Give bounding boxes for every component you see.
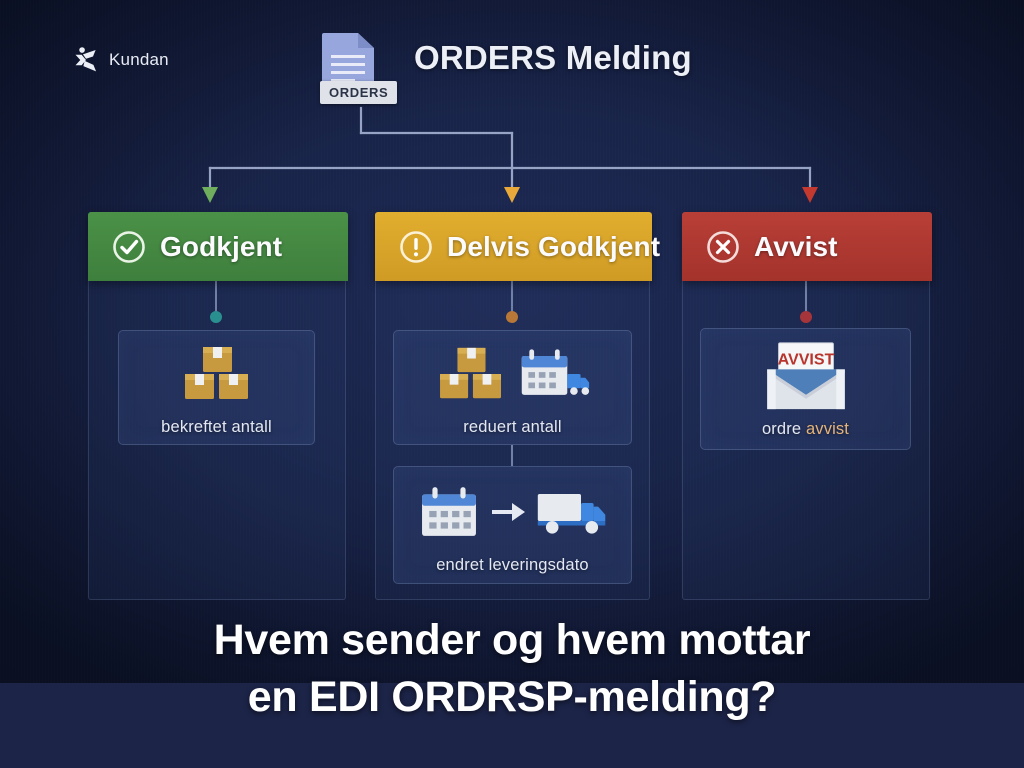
item-icons: AVVIST <box>754 340 858 412</box>
caption-line-2: en EDI ORDRSP-melding? <box>0 669 1024 726</box>
truck-icon <box>536 486 608 538</box>
item-label-ordre-avvist: ordre avvist <box>762 420 849 439</box>
item-label-reduert-antall: reduert antall <box>463 418 561 437</box>
envelope-stamp-text: AVVIST <box>777 350 834 368</box>
arrowhead-approved <box>202 187 218 203</box>
item-card-endret-leveringsdato[interactable]: endret leveringsdato <box>393 466 632 584</box>
item-label-part1: ordre <box>762 420 806 438</box>
status-label-approved: Godkjent <box>160 231 282 263</box>
column-header-approved: Godkjent <box>88 212 348 281</box>
calendar-icon <box>418 484 480 540</box>
item-icons <box>180 338 254 410</box>
caption: Hvem sender og hvem mottar en EDI ORDRSP… <box>0 612 1024 726</box>
exclamation-circle-icon <box>399 230 433 264</box>
brand-name: Kundan <box>109 50 169 70</box>
item-icons <box>418 476 608 548</box>
orders-badge: ORDERS <box>320 81 397 104</box>
x-circle-icon <box>706 230 740 264</box>
item-icons <box>435 338 591 410</box>
item-label-endret-leveringsdato: endret leveringsdato <box>436 556 589 575</box>
item-card-ordre-avvist[interactable]: AVVIST ordre avvist <box>700 328 911 450</box>
source-node: ORDERS ORDERS Melding <box>320 30 692 104</box>
arrow-right-icon <box>490 500 526 524</box>
column-header-partial: Delvis Godkjent <box>375 212 652 281</box>
calendar-truck-icon <box>517 345 591 403</box>
column-header-rejected: Avvist <box>682 212 932 281</box>
kundan-logo-icon <box>72 46 100 74</box>
envelope-rejected-icon: AVVIST <box>754 341 858 411</box>
item-card-reduert-antall[interactable]: reduert antall <box>393 330 632 445</box>
check-circle-icon <box>112 230 146 264</box>
item-label-bekreftet-antall: bekreftet antall <box>161 418 272 437</box>
document-icon-wrapper: ORDERS <box>320 30 400 104</box>
caption-line-1: Hvem sender og hvem mottar <box>0 612 1024 669</box>
boxes-icon <box>180 343 254 405</box>
item-label-part2: avvist <box>806 420 849 438</box>
slide-canvas: Kundan ORDERS ORDERS Melding Godkjent <box>0 0 1024 768</box>
boxes-icon <box>435 344 507 404</box>
status-label-partial: Delvis Godkjent <box>447 231 660 263</box>
source-title: ORDERS Melding <box>414 39 692 77</box>
brand-logo: Kundan <box>72 46 169 74</box>
arrowhead-rejected <box>802 187 818 203</box>
arrowhead-partial <box>504 187 520 203</box>
status-label-rejected: Avvist <box>754 231 838 263</box>
item-card-bekreftet-antall[interactable]: bekreftet antall <box>118 330 315 445</box>
